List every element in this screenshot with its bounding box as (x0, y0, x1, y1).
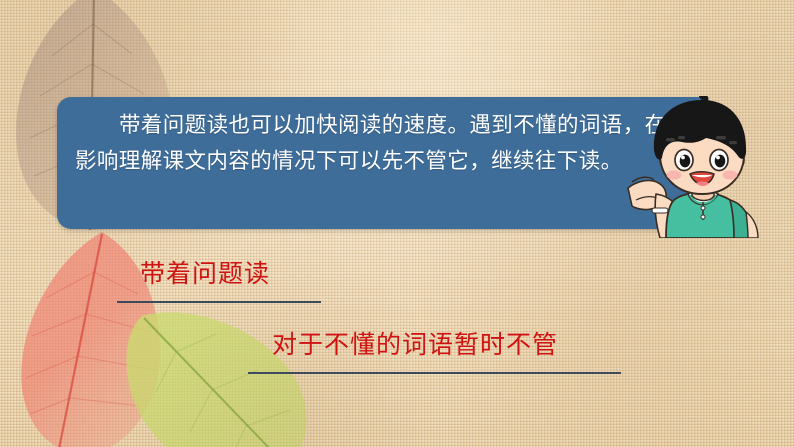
key-point-underline-2 (248, 372, 621, 374)
key-point-label-1: 带着问题读 (140, 259, 270, 289)
key-point-underline-1 (117, 301, 321, 303)
key-point-label-2: 对于不懂的词语暂时不管 (272, 330, 558, 360)
slide-canvas: 带着问题读也可以加快阅读的速度。遇到不懂的词语，在不影响理解课文内容的情况下可以… (0, 0, 794, 447)
speech-panel: 带着问题读也可以加快阅读的速度。遇到不懂的词语，在不影响理解课文内容的情况下可以… (57, 97, 714, 229)
cartoon-boy-illustration (626, 96, 762, 238)
speech-panel-paragraph: 带着问题读也可以加快阅读的速度。遇到不懂的词语，在不影响理解课文内容的情况下可以… (75, 108, 695, 180)
